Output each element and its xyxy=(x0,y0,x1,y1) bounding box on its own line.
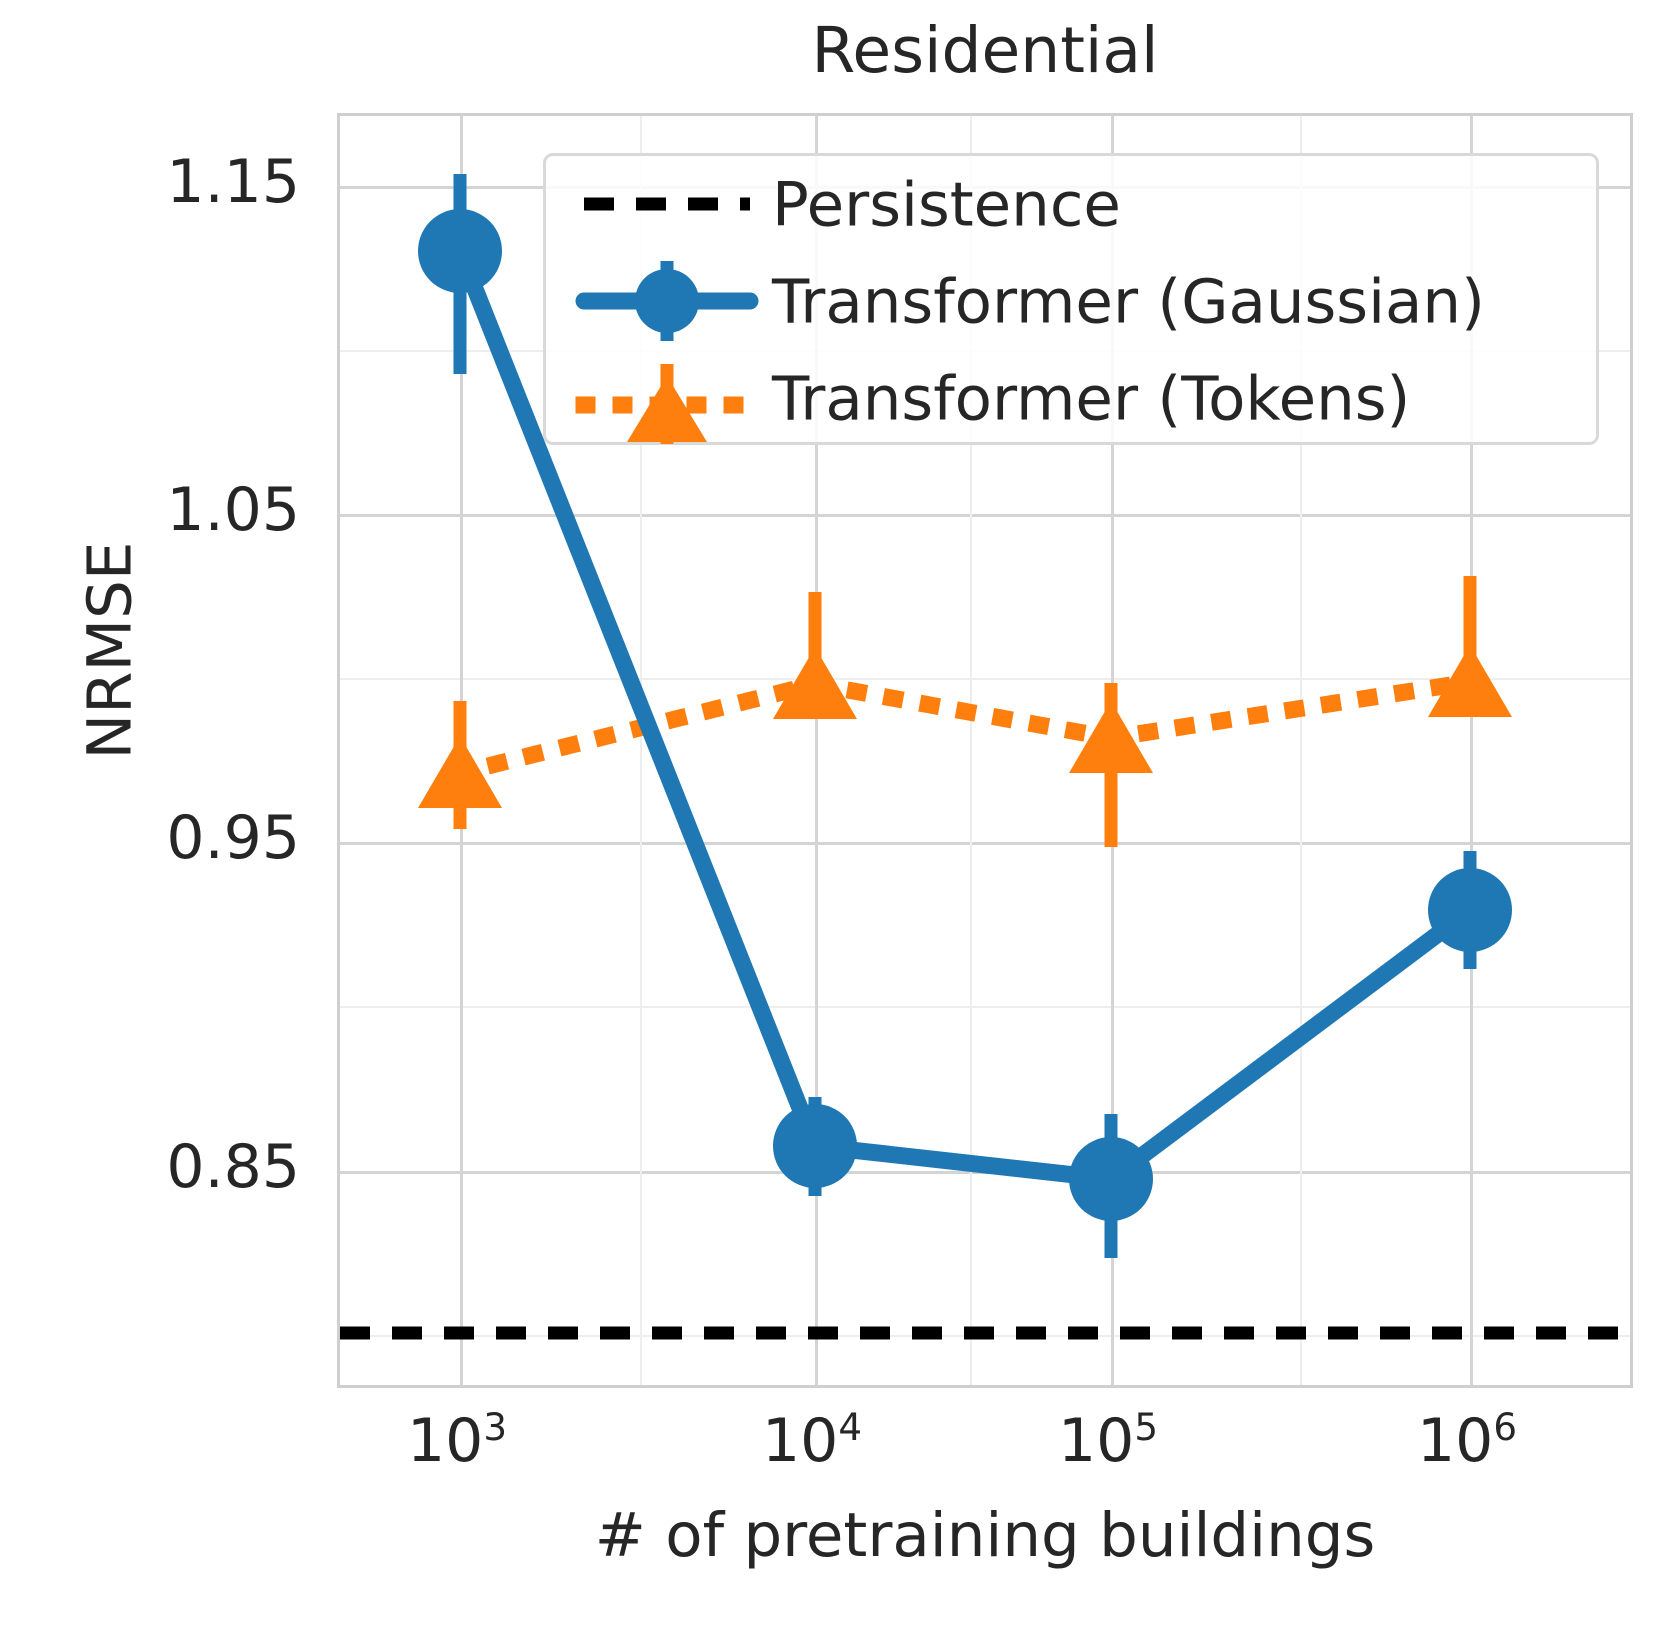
x-tick-exponent: 5 xyxy=(1134,1405,1158,1449)
x-tick-base: 10 xyxy=(1417,1406,1493,1476)
legend-label: Transformer (Tokens) xyxy=(772,363,1410,434)
x-tick-exponent: 3 xyxy=(483,1405,507,1449)
legend-row-gaussian[interactable]: Transformer (Gaussian) xyxy=(546,253,1596,350)
x-tick-label: 104 xyxy=(692,1406,932,1476)
x-axis-title: # of pretraining buildings xyxy=(337,1500,1633,1571)
legend-label: Persistence xyxy=(772,169,1121,240)
x-tick-label: 103 xyxy=(337,1406,577,1476)
legend-row-tokens[interactable]: Transformer (Tokens) xyxy=(546,350,1596,447)
tokens-line xyxy=(460,682,1470,773)
x-tick-base: 10 xyxy=(1058,1406,1134,1476)
x-tick-exponent: 4 xyxy=(838,1405,862,1449)
x-tick-label: 105 xyxy=(988,1406,1228,1476)
y-tick-label: 1.15 xyxy=(0,147,300,217)
legend-sample-triangle-marker-icon xyxy=(578,350,756,447)
legend-sample-dashed-line-icon xyxy=(578,156,756,253)
y-tick-label: 1.05 xyxy=(0,475,300,545)
y-tick-label: 0.85 xyxy=(0,1132,300,1202)
x-tick-base: 10 xyxy=(407,1406,483,1476)
x-tick-base: 10 xyxy=(762,1406,838,1476)
x-tick-label: 106 xyxy=(1347,1406,1587,1476)
tokens-markers xyxy=(418,645,1512,808)
y-tick-label: 0.95 xyxy=(0,803,300,873)
legend-row-persistence[interactable]: Persistence xyxy=(546,156,1596,253)
chart-title: Residential xyxy=(337,14,1633,87)
x-tick-exponent: 6 xyxy=(1493,1405,1517,1449)
legend-label: Transformer (Gaussian) xyxy=(772,266,1485,337)
chart-figure: Residential NRMSE 1.15 1.05 0.95 0.85 10… xyxy=(0,0,1661,1633)
plot-area: Persistence Transformer (Gaussian) xyxy=(337,113,1633,1388)
legend-sample-circle-marker-icon xyxy=(578,253,756,350)
chart-legend[interactable]: Persistence Transformer (Gaussian) xyxy=(543,153,1599,445)
